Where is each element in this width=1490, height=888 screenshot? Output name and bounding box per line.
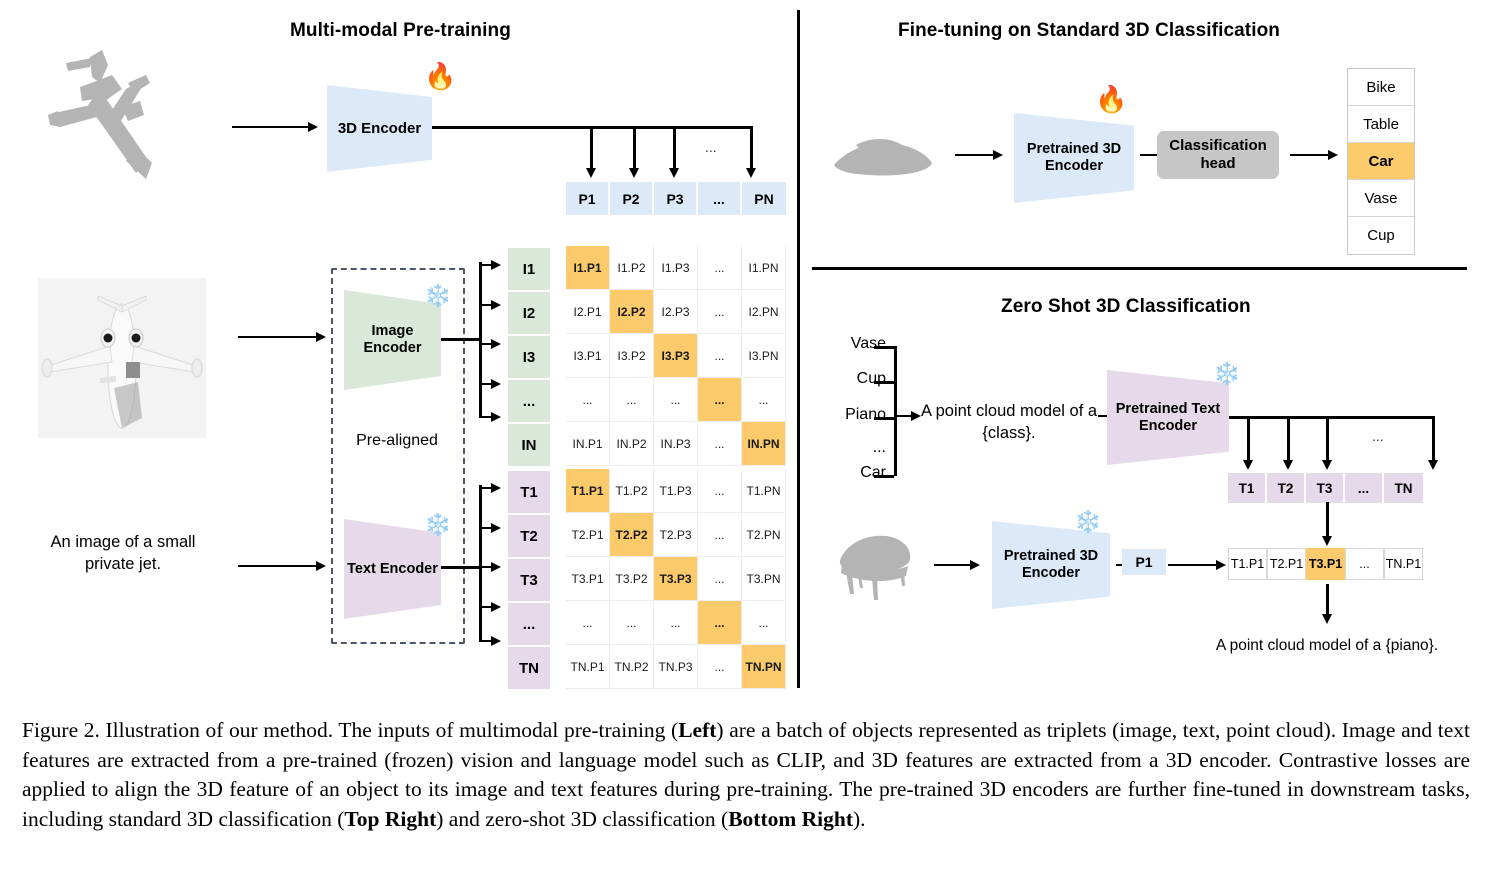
matrix-cell: I3.PN xyxy=(742,334,785,377)
fire-icon-finetune: 🔥 xyxy=(1095,86,1127,112)
matrix-cell: T2.P2 xyxy=(610,513,653,556)
fanout-text-stem xyxy=(441,566,481,569)
arrow-car-to-encoder xyxy=(955,150,1003,160)
matrix-cell: I2.P1 xyxy=(566,290,609,333)
score-cell: T3.P1 xyxy=(1306,548,1345,580)
matrix-cell: I3.P1 xyxy=(566,334,609,377)
p-feature-cell: ... xyxy=(698,182,742,215)
encoder-3d[interactable]: 3D Encoder xyxy=(327,85,432,172)
branch-tn xyxy=(1432,416,1435,462)
matrix-row: T1.P1T1.P2T1.P3...T1.PN xyxy=(566,469,786,513)
matrix-cell: T2.PN xyxy=(742,513,785,556)
t-feature-cell: T2 xyxy=(1267,473,1306,503)
zeroshot-class-list: VaseCupPiano...Car xyxy=(828,335,886,485)
matrix-cell: ... xyxy=(698,557,741,600)
matrix-cell: I2.P2 xyxy=(610,290,653,333)
arrowhead-t3 xyxy=(1322,460,1332,470)
arrowhead-p1 xyxy=(586,168,596,178)
matrix-cell: ... xyxy=(698,513,741,556)
branch-p1 xyxy=(590,126,593,170)
caption-part-4: ). xyxy=(853,807,866,831)
image-similarity-matrix: I1.P1I1.P2I1.P3...I1.PNI2.P1I2.P2I2.P3..… xyxy=(566,246,786,466)
bus-text-encoder xyxy=(1229,416,1433,419)
class-list: BikeTableCarVaseCup xyxy=(1347,68,1415,255)
matrix-cell: ... xyxy=(698,334,741,377)
p-feature-cell: P1 xyxy=(566,182,610,215)
matrix-row: T3.P1T3.P2T3.P3...T3.PN xyxy=(566,557,786,601)
snowflake-icon-text-encoder: ❄️ xyxy=(1213,363,1240,385)
matrix-cell: TN.PN xyxy=(742,645,785,688)
arrowhead-p3 xyxy=(669,168,679,178)
caption-part-3: ) and zero-shot 3D classification ( xyxy=(436,807,728,831)
matrix-cell: IN.P2 xyxy=(610,422,653,465)
arrowhead-pn xyxy=(746,168,756,178)
arrowhead-scores-to-result xyxy=(1322,614,1332,624)
arrow-trow-to-scores xyxy=(1326,502,1329,538)
matrix-cell: T2.P1 xyxy=(566,513,609,556)
matrix-cell: TN.P2 xyxy=(610,645,653,688)
snowflake-icon-3d-encoder: ❄️ xyxy=(1074,511,1101,533)
matrix-cell: TN.P1 xyxy=(566,645,609,688)
branch-p3 xyxy=(673,126,676,170)
matrix-row: IN.P1IN.P2IN.P3...IN.PN xyxy=(566,422,786,466)
matrix-cell: T3.PN xyxy=(742,557,785,600)
arrow-head-to-classes xyxy=(1290,150,1338,160)
matrix-cell: I1.P2 xyxy=(610,246,653,289)
matrix-cell: I3.P2 xyxy=(610,334,653,377)
piano-point-cloud xyxy=(832,524,922,604)
snowflake-icon-image: ❄️ xyxy=(424,285,451,307)
class-list-item[interactable]: Cup xyxy=(1348,217,1414,254)
arrow-pointcloud-to-3d-encoder xyxy=(232,122,320,132)
caption-bold-bottom-right: Bottom Right xyxy=(728,807,853,831)
prompt-template: A point cloud model of a {class}. xyxy=(920,400,1098,445)
feature-label: T3 xyxy=(508,559,550,603)
branch-p2 xyxy=(633,126,636,170)
feature-label: ... xyxy=(508,603,550,647)
matrix-cell: ... xyxy=(610,601,653,644)
matrix-cell: TN.P3 xyxy=(654,645,697,688)
branch-pn xyxy=(750,126,753,170)
p-feature-row: P1P2P3...PN xyxy=(566,182,786,215)
branch-ellipsis-t: ... xyxy=(1372,428,1384,444)
matrix-cell: ... xyxy=(566,601,609,644)
feature-label: I1 xyxy=(508,248,550,292)
matrix-row: I3.P1I3.P2I3.P3...I3.PN xyxy=(566,334,786,378)
matrix-cell: ... xyxy=(698,422,741,465)
matrix-cell: ... xyxy=(698,469,741,512)
arrow-text-to-text-encoder xyxy=(238,561,326,571)
score-cell: ... xyxy=(1345,548,1384,580)
matrix-cell: I3.P3 xyxy=(654,334,697,377)
image-feature-labels: I1I2I3...IN xyxy=(508,248,550,466)
class-list-item[interactable]: Vase xyxy=(1348,180,1414,217)
branch-ellipsis: ... xyxy=(705,139,717,155)
matrix-row: ............... xyxy=(566,378,786,422)
class-list-item[interactable]: Bike xyxy=(1348,69,1414,106)
matrix-cell: I1.P1 xyxy=(566,246,609,289)
horizontal-divider xyxy=(812,267,1467,270)
p-feature-cell: PN xyxy=(742,182,786,215)
score-cell: T1.P1 xyxy=(1228,548,1267,580)
bottom-right-panel-title: Zero Shot 3D Classification xyxy=(1001,296,1251,318)
matrix-cell: ... xyxy=(654,378,697,421)
feature-label: ... xyxy=(508,380,550,424)
arrowhead-trow-to-scores xyxy=(1322,536,1332,546)
matrix-cell: ... xyxy=(698,601,741,644)
matrix-cell: ... xyxy=(742,378,785,421)
t-feature-cell: T1 xyxy=(1228,473,1267,503)
caption-part-1: Figure 2. Illustration of our method. Th… xyxy=(22,718,678,742)
matrix-cell: T3.P2 xyxy=(610,557,653,600)
score-cell: T2.P1 xyxy=(1267,548,1306,580)
matrix-cell: T1.P1 xyxy=(566,469,609,512)
top-right-panel-title: Fine-tuning on Standard 3D Classificatio… xyxy=(898,20,1280,42)
matrix-cell: IN.PN xyxy=(742,422,785,465)
pretrained-text-encoder[interactable]: Pretrained Text Encoder xyxy=(1107,370,1229,465)
feature-label: T2 xyxy=(508,515,550,559)
feature-label: TN xyxy=(508,647,550,689)
arrowhead-t1 xyxy=(1243,460,1253,470)
matrix-cell: ... xyxy=(698,246,741,289)
arrowhead-t2 xyxy=(1283,460,1293,470)
t-feature-row: T1T2T3...TN xyxy=(1228,473,1423,503)
car-point-cloud xyxy=(828,135,938,183)
matrix-cell: IN.P3 xyxy=(654,422,697,465)
matrix-cell: I1.PN xyxy=(742,246,785,289)
matrix-cell: I2.P3 xyxy=(654,290,697,333)
matrix-row: T2.P1T2.P2T2.P3...T2.PN xyxy=(566,513,786,557)
zeroshot-class-item: Piano xyxy=(828,406,886,424)
input-text-caption: An image of a small private jet. xyxy=(30,531,216,576)
branch-t2 xyxy=(1287,416,1290,462)
fanout-image-stem xyxy=(441,338,481,341)
t-feature-cell: T3 xyxy=(1306,473,1345,503)
feature-label: T1 xyxy=(508,471,550,515)
figure-caption: Figure 2. Illustration of our method. Th… xyxy=(22,716,1470,835)
matrix-row: I2.P1I2.P2I2.P3...I2.PN xyxy=(566,290,786,334)
airplane-rendered-image xyxy=(38,278,206,438)
matrix-cell: T1.P3 xyxy=(654,469,697,512)
classification-head[interactable]: Classification head xyxy=(1157,131,1279,179)
matrix-cell: ... xyxy=(742,601,785,644)
snowflake-icon-text: ❄️ xyxy=(424,514,451,536)
arrow-piano-to-encoder xyxy=(934,560,980,570)
vertical-divider xyxy=(797,10,800,688)
figure-canvas: Multi-modal Pre-training 3D Encoder 🔥 xyxy=(0,0,1490,700)
left-panel-title: Multi-modal Pre-training xyxy=(290,20,511,42)
score-cell: TN.P1 xyxy=(1384,548,1423,580)
zeroshot-result: A point cloud model of a {piano}. xyxy=(1190,637,1464,655)
p1-feature: P1 xyxy=(1122,549,1166,575)
matrix-cell: ... xyxy=(654,601,697,644)
fire-icon: 🔥 xyxy=(424,63,456,89)
class-list-item[interactable]: Table xyxy=(1348,106,1414,143)
caption-bold-left: Left xyxy=(678,718,716,742)
arrow-image-to-image-encoder xyxy=(238,332,326,342)
similarity-score-row: T1.P1T2.P1T3.P1...TN.P1 xyxy=(1228,548,1423,580)
p-feature-cell: P2 xyxy=(610,182,654,215)
feature-label: IN xyxy=(508,424,550,466)
class-brace-bottom xyxy=(874,475,894,478)
matrix-cell: ... xyxy=(610,378,653,421)
matrix-cell: T3.P3 xyxy=(654,557,697,600)
matrix-cell: ... xyxy=(698,645,741,688)
text-feature-labels: T1T2T3...TN xyxy=(508,471,550,689)
pre-aligned-label: Pre-aligned xyxy=(343,432,451,450)
matrix-cell: I2.PN xyxy=(742,290,785,333)
pretrained-3d-encoder-finetune[interactable]: Pretrained 3D Encoder xyxy=(1014,113,1134,203)
matrix-cell: T1.PN xyxy=(742,469,785,512)
arrowhead-p2 xyxy=(629,168,639,178)
matrix-cell: T2.P3 xyxy=(654,513,697,556)
zeroshot-class-item: ... xyxy=(828,439,886,457)
matrix-cell: I1.P3 xyxy=(654,246,697,289)
arrow-p1-to-scores xyxy=(1168,560,1226,570)
class-list-item[interactable]: Car xyxy=(1348,143,1414,180)
arrowhead-tn xyxy=(1428,460,1438,470)
class-brace-top xyxy=(874,346,894,349)
caption-bold-top-right: Top Right xyxy=(344,807,436,831)
feature-label: I3 xyxy=(508,336,550,380)
matrix-row: TN.P1TN.P2TN.P3...TN.PN xyxy=(566,645,786,689)
matrix-cell: T1.P2 xyxy=(610,469,653,512)
t-feature-cell: TN xyxy=(1384,473,1423,503)
p-feature-cell: P3 xyxy=(654,182,698,215)
pretrained-3d-encoder-zeroshot[interactable]: Pretrained 3D Encoder xyxy=(992,521,1110,609)
zeroshot-class-item: Cup xyxy=(828,370,886,388)
class-brace-mid2 xyxy=(874,417,894,420)
branch-t1 xyxy=(1247,416,1250,462)
matrix-row: ............... xyxy=(566,601,786,645)
zeroshot-class-item: Vase xyxy=(828,335,886,353)
text-similarity-matrix: T1.P1T1.P2T1.P3...T1.PNT2.P1T2.P2T2.P3..… xyxy=(566,469,786,689)
matrix-cell: ... xyxy=(698,378,741,421)
class-brace-mid1 xyxy=(874,381,894,384)
matrix-row: I1.P1I1.P2I1.P3...I1.PN xyxy=(566,246,786,290)
arrow-classes-to-prompt xyxy=(894,411,921,421)
matrix-cell: ... xyxy=(566,378,609,421)
branch-t3 xyxy=(1326,416,1329,462)
arrow-scores-to-result xyxy=(1326,584,1329,616)
feature-label: I2 xyxy=(508,292,550,336)
matrix-cell: IN.P1 xyxy=(566,422,609,465)
t-feature-cell: ... xyxy=(1345,473,1384,503)
airplane-point-cloud xyxy=(30,45,220,220)
matrix-cell: ... xyxy=(698,290,741,333)
matrix-cell: T3.P1 xyxy=(566,557,609,600)
zeroshot-class-item: Car xyxy=(828,464,886,482)
